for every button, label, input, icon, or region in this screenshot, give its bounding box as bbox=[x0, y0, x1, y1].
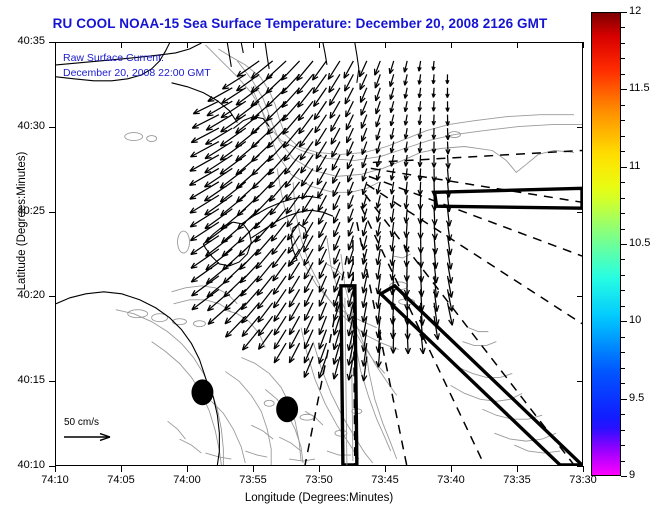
colorbar-tick-label: 11 bbox=[629, 160, 640, 172]
x-tick bbox=[319, 466, 320, 472]
x-tick bbox=[451, 466, 452, 472]
annotation-line-1: Raw Surface Current: bbox=[63, 51, 211, 66]
colorbar-minor-tick bbox=[621, 167, 625, 168]
y-tick bbox=[49, 212, 55, 213]
colorbar-minor-tick bbox=[621, 399, 625, 400]
x-tick-label: 73:45 bbox=[362, 474, 408, 486]
x-tick-top bbox=[187, 42, 188, 48]
page-title: RU COOL NOAA-15 Sea Surface Temperature:… bbox=[0, 16, 600, 31]
y-tick-label: 40:35 bbox=[0, 35, 45, 47]
colorbar-minor-tick bbox=[621, 120, 625, 121]
colorbar-minor-tick bbox=[621, 476, 625, 477]
y-tick-label: 40:15 bbox=[0, 374, 45, 386]
colorbar-tick-label: 10.5 bbox=[629, 237, 650, 249]
map-annotation: Raw Surface Current: December 20, 2008 2… bbox=[63, 51, 211, 81]
y-tick-right bbox=[577, 381, 583, 382]
traffic-lane-polygons bbox=[341, 188, 582, 465]
colorbar-minor-tick bbox=[621, 290, 625, 291]
colorbar-minor-tick bbox=[621, 430, 625, 431]
colorbar-minor-tick bbox=[621, 414, 625, 415]
x-tick bbox=[187, 466, 188, 472]
colorbar-minor-tick bbox=[621, 275, 625, 276]
colorbar-tick-label: 9.5 bbox=[629, 392, 644, 404]
x-tick-top bbox=[253, 42, 254, 48]
colorbar-minor-tick bbox=[621, 259, 625, 260]
colorbar-minor-tick bbox=[621, 136, 625, 137]
colorbar-minor-tick bbox=[621, 461, 625, 462]
x-tick bbox=[583, 466, 584, 472]
x-tick-top bbox=[121, 42, 122, 48]
colorbar-minor-tick bbox=[621, 352, 625, 353]
scale-arrow-icon bbox=[62, 430, 118, 444]
y-tick-right bbox=[577, 127, 583, 128]
x-tick bbox=[385, 466, 386, 472]
colorbar-minor-tick bbox=[621, 105, 625, 106]
x-tick-top bbox=[385, 42, 386, 48]
colorbar-minor-tick bbox=[621, 213, 625, 214]
x-tick bbox=[517, 466, 518, 472]
colorbar-minor-tick bbox=[621, 306, 625, 307]
x-tick-label: 73:50 bbox=[296, 474, 342, 486]
colorbar-minor-tick bbox=[621, 198, 625, 199]
x-tick-label: 73:55 bbox=[230, 474, 276, 486]
colorbar-tick-label: 9 bbox=[629, 469, 635, 481]
y-tick-right bbox=[577, 466, 583, 467]
y-tick-label: 40:10 bbox=[0, 459, 45, 471]
colorbar-minor-tick bbox=[621, 12, 625, 13]
colorbar-minor-tick bbox=[621, 229, 625, 230]
colorbar-minor-tick bbox=[621, 43, 625, 44]
colorbar-minor-tick bbox=[621, 383, 625, 384]
x-tick-top bbox=[583, 42, 584, 48]
y-tick-right bbox=[577, 212, 583, 213]
colorbar bbox=[591, 12, 621, 476]
x-tick-label: 74:05 bbox=[98, 474, 144, 486]
y-tick bbox=[49, 127, 55, 128]
colorbar-tick-label: 11.5 bbox=[629, 82, 650, 94]
y-tick-right bbox=[577, 296, 583, 297]
vector-scale-label: 50 cm/s bbox=[62, 417, 118, 428]
y-tick bbox=[49, 466, 55, 467]
x-tick-label: 74:00 bbox=[164, 474, 210, 486]
surface-current-vectors bbox=[190, 61, 454, 381]
colorbar-minor-tick bbox=[621, 244, 625, 245]
vector-scale-key: 50 cm/s bbox=[62, 417, 118, 447]
colorbar-tick-label: 12 bbox=[629, 5, 641, 17]
colorbar-minor-tick bbox=[621, 321, 625, 322]
map-plot-area: Raw Surface Current: December 20, 2008 2… bbox=[55, 42, 583, 466]
colorbar-minor-tick bbox=[621, 445, 625, 446]
colorbar-tick-label: 10 bbox=[629, 314, 641, 326]
x-tick bbox=[121, 466, 122, 472]
colorbar-minor-tick bbox=[621, 337, 625, 338]
colorbar-minor-tick bbox=[621, 27, 625, 28]
y-axis-label: Latitude (Degrees:Minutes) bbox=[16, 111, 28, 331]
bathymetry-contours bbox=[116, 45, 582, 465]
y-tick bbox=[49, 42, 55, 43]
x-tick-top bbox=[319, 42, 320, 48]
colorbar-minor-tick bbox=[621, 151, 625, 152]
x-tick-label: 73:35 bbox=[494, 474, 540, 486]
map-canvas bbox=[56, 43, 582, 465]
y-tick bbox=[49, 296, 55, 297]
annotation-line-2: December 20, 2008 22:00 GMT bbox=[63, 66, 211, 81]
x-tick-label: 73:40 bbox=[428, 474, 474, 486]
y-tick-right bbox=[577, 42, 583, 43]
x-tick-label: 74:10 bbox=[32, 474, 78, 486]
x-tick bbox=[55, 466, 56, 472]
x-tick-top bbox=[55, 42, 56, 48]
x-tick bbox=[253, 466, 254, 472]
colorbar-minor-tick bbox=[621, 182, 625, 183]
colorbar-minor-tick bbox=[621, 58, 625, 59]
x-tick-top bbox=[451, 42, 452, 48]
station-markers bbox=[191, 379, 298, 422]
x-tick-top bbox=[517, 42, 518, 48]
x-axis-label: Longitude (Degrees:Minutes) bbox=[55, 492, 583, 504]
colorbar-minor-tick bbox=[621, 368, 625, 369]
y-tick bbox=[49, 381, 55, 382]
colorbar-minor-tick bbox=[621, 89, 625, 90]
colorbar-minor-tick bbox=[621, 74, 625, 75]
